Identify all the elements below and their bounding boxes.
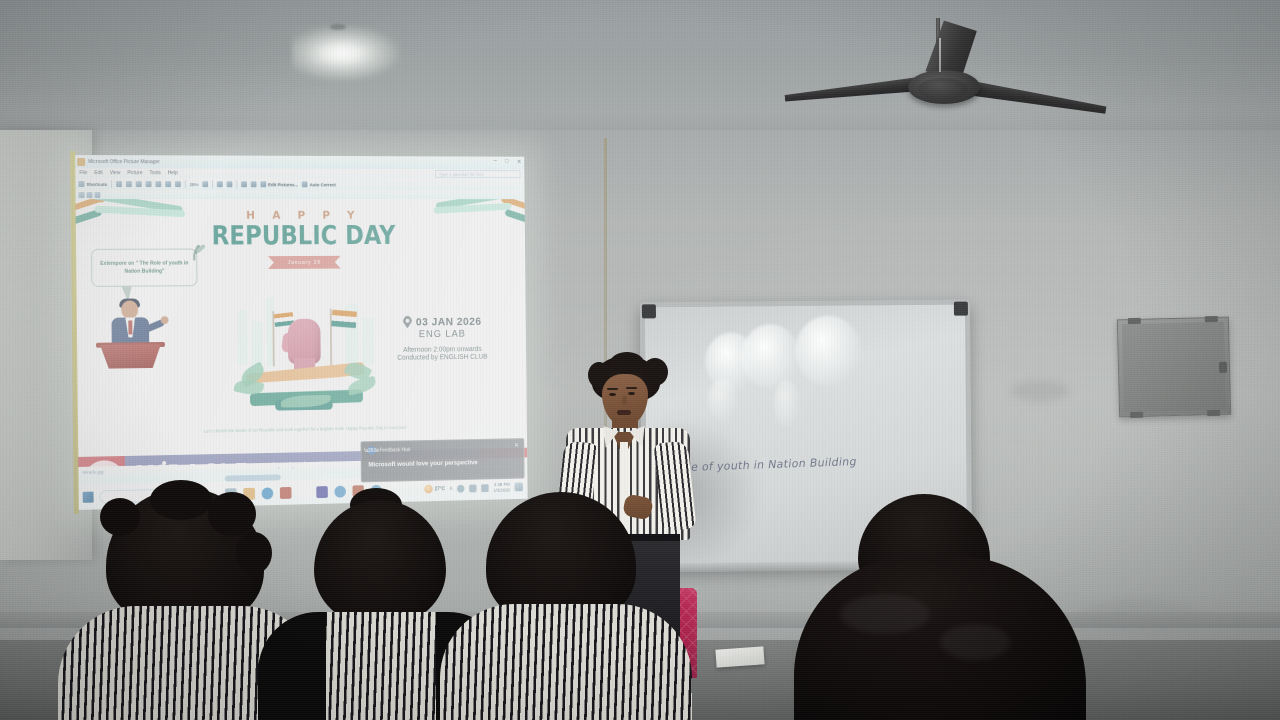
- fist-and-flags-illustration: [234, 293, 377, 422]
- toolbar[interactable]: Shortcuts 28%: [74, 178, 524, 190]
- window-controls[interactable]: – □ ✕: [494, 159, 522, 166]
- audience-member-right-center: [440, 492, 690, 720]
- fit-window-icon[interactable]: [227, 181, 233, 187]
- teams-icon[interactable]: [316, 486, 328, 498]
- secondary-toolbar[interactable]: [75, 190, 525, 199]
- rotate-right-icon[interactable]: [165, 181, 171, 187]
- slide-title: REPUBLIC DAY: [103, 220, 499, 252]
- help-search-input[interactable]: Type a question for help: [435, 170, 521, 178]
- single-view-icon[interactable]: [94, 192, 100, 198]
- event-date: 03 JAN 2026: [416, 316, 482, 328]
- feedback-hub-toast[interactable]: \u263a Feedback Hub ✕ Microsoft would lo…: [361, 438, 525, 482]
- weather-sun-icon: [424, 485, 433, 494]
- menu-view[interactable]: View: [110, 170, 121, 176]
- head: [314, 500, 446, 626]
- toast-message: Microsoft would love your perspective: [368, 459, 477, 468]
- republic-day-slide: H A P P Y REPUBLIC DAY January 26 Extemp…: [75, 199, 528, 467]
- microphone-icon: [191, 243, 207, 261]
- toolbar-separator: [111, 180, 112, 188]
- projection-screen: Microsoft Office Picture Manager – □ ✕ F…: [74, 155, 527, 510]
- toast-close-icon[interactable]: ✕: [514, 442, 519, 449]
- auto-correct-icon: [302, 181, 308, 187]
- event-host: Conducted by ENGLISH CLUB: [367, 353, 517, 362]
- shortcuts-icon: [78, 181, 84, 187]
- edit-pictures-icon: [260, 181, 266, 187]
- rotate-left-icon[interactable]: [155, 181, 161, 187]
- ceiling-light-glare: [292, 24, 402, 82]
- status-filename: Miracle.jpg: [82, 469, 103, 474]
- menu-tools[interactable]: Tools: [149, 170, 161, 176]
- event-details: 03 JAN 2026 ENG LAB Afternoon 2:00pm onw…: [367, 315, 517, 362]
- toolbar-separator: [236, 180, 237, 188]
- electrical-panel-icon: [1117, 317, 1231, 418]
- back-icon[interactable]: [241, 181, 247, 187]
- network-icon[interactable]: [481, 484, 489, 492]
- paper-sheet: [715, 646, 764, 667]
- close-icon[interactable]: ✕: [517, 159, 522, 166]
- delete-icon[interactable]: [146, 181, 152, 187]
- status-nav-arrows[interactable]: ‹ ›: [278, 465, 300, 471]
- picture-manager-icon: [77, 157, 85, 165]
- menu-picture[interactable]: Picture: [127, 170, 142, 176]
- slide-footnote: Let's cherish the ideals of our Republic…: [77, 423, 527, 438]
- tray-expand-chevron-icon[interactable]: ʌ: [450, 486, 453, 492]
- menu-edit[interactable]: Edit: [94, 170, 103, 176]
- shortcuts-button[interactable]: Shortcuts: [78, 181, 107, 187]
- location-pin-icon: [403, 316, 413, 329]
- slide-date-ribbon: January 26: [268, 256, 341, 269]
- torso: [440, 604, 692, 720]
- minimize-icon[interactable]: –: [494, 159, 497, 166]
- thumbnail-view-icon[interactable]: [79, 191, 85, 197]
- maximize-icon[interactable]: □: [505, 159, 508, 166]
- app-titlebar: Microsoft Office Picture Manager – □ ✕: [74, 155, 524, 169]
- feedback-hub-icon: \u263a: [367, 446, 376, 455]
- extempore-topic-text: Extempore on " The Role of youth in Nati…: [97, 259, 191, 275]
- ceiling-fan-icon: [760, 18, 1100, 143]
- filmstrip-view-icon[interactable]: [86, 192, 92, 198]
- weather-temperature: 27°C: [434, 486, 445, 492]
- save-icon[interactable]: [116, 181, 122, 187]
- menu-file[interactable]: File: [79, 170, 87, 176]
- speaker-illustration-icon: [97, 298, 169, 368]
- zoom-level[interactable]: 28%: [190, 182, 199, 187]
- chevron-down-icon[interactable]: [202, 181, 208, 187]
- event-location: ENG LAB: [367, 328, 517, 340]
- auto-correct-button[interactable]: Auto Correct: [302, 181, 336, 187]
- clock-time: 2:48 PM: [493, 481, 510, 487]
- forward-icon[interactable]: [251, 181, 257, 187]
- audience-member-right: [770, 494, 1100, 720]
- toolbar-separator: [212, 180, 213, 188]
- classroom-photo-scene: Role of youth in Nation Building Microso…: [0, 0, 1280, 720]
- bluetooth-icon[interactable]: [469, 484, 477, 492]
- crop-icon[interactable]: [175, 181, 181, 187]
- copy-icon[interactable]: [126, 181, 132, 187]
- zoom-slider-icon[interactable]: [217, 181, 223, 187]
- toast-app-name: Feedback Hub: [380, 447, 411, 453]
- edit-pictures-button[interactable]: Edit Pictures...: [260, 181, 298, 187]
- notification-icon[interactable]: [514, 482, 522, 491]
- menu-help[interactable]: Help: [168, 170, 178, 176]
- help-placeholder: Type a question for help: [436, 171, 520, 179]
- ceiling-fixture-icon: [330, 24, 346, 30]
- app-title: Microsoft Office Picture Manager: [88, 159, 160, 165]
- chrome-icon[interactable]: [334, 485, 346, 497]
- extempore-speech-bubble: Extempore on " The Role of youth in Nati…: [91, 249, 198, 287]
- toolbar-separator: [185, 180, 186, 188]
- paste-icon[interactable]: [136, 181, 142, 187]
